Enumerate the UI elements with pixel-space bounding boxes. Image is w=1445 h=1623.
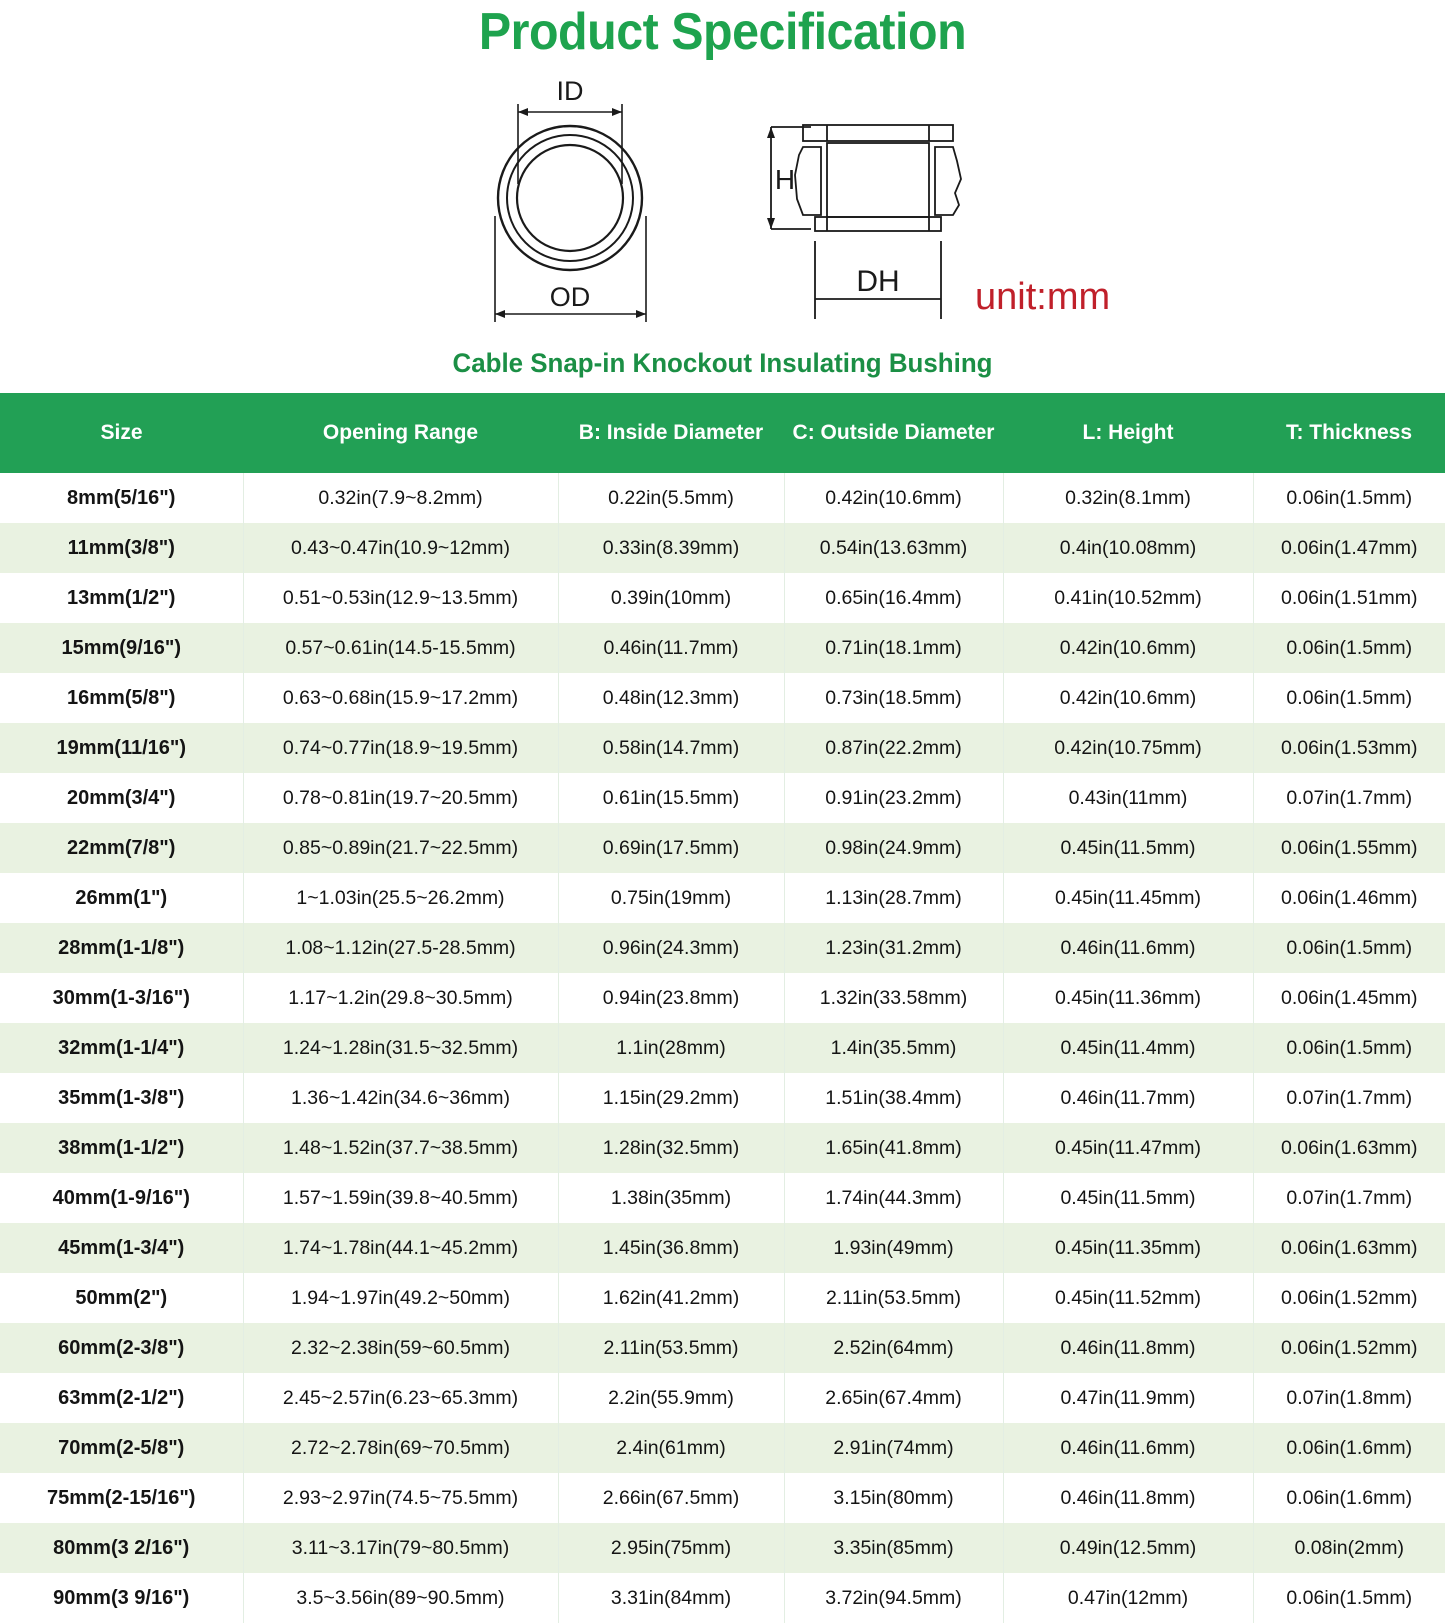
cell-thickness: 0.06in(1.6mm) [1253, 1473, 1445, 1523]
column-header-thickness: T: Thickness [1253, 393, 1445, 473]
cell-thickness: 0.06in(1.5mm) [1253, 923, 1445, 973]
table-row: 38mm(1-1/2")1.48~1.52in(37.7~38.5mm)1.28… [0, 1123, 1445, 1173]
cell-thickness: 0.07in(1.7mm) [1253, 1073, 1445, 1123]
cell-opening-range: 2.32~2.38in(59~60.5mm) [243, 1323, 558, 1373]
cell-thickness: 0.07in(1.7mm) [1253, 1173, 1445, 1223]
front-view-diagram: ID OD [470, 66, 720, 346]
cell-size: 32mm(1-1/4") [0, 1023, 243, 1073]
cell-height: 0.45in(11.5mm) [1003, 823, 1253, 873]
table-row: 13mm(1/2")0.51~0.53in(12.9~13.5mm)0.39in… [0, 573, 1445, 623]
table-row: 30mm(1-3/16")1.17~1.2in(29.8~30.5mm)0.94… [0, 973, 1445, 1023]
cell-size: 13mm(1/2") [0, 573, 243, 623]
cell-size: 16mm(5/8") [0, 673, 243, 723]
cell-opening-range: 1~1.03in(25.5~26.2mm) [243, 873, 558, 923]
cell-opening-range: 2.45~2.57in(6.23~65.3mm) [243, 1373, 558, 1423]
cell-height: 0.46in(11.6mm) [1003, 1423, 1253, 1473]
cell-size: 8mm(5/16") [0, 473, 243, 523]
table-row: 32mm(1-1/4")1.24~1.28in(31.5~32.5mm)1.1i… [0, 1023, 1445, 1073]
cell-size: 15mm(9/16") [0, 623, 243, 673]
cell-outside-diameter: 0.54in(13.63mm) [784, 523, 1003, 573]
cell-size: 35mm(1-3/8") [0, 1073, 243, 1123]
table-row: 20mm(3/4")0.78~0.81in(19.7~20.5mm)0.61in… [0, 773, 1445, 823]
cell-opening-range: 1.24~1.28in(31.5~32.5mm) [243, 1023, 558, 1073]
cell-inside-diameter: 0.46in(11.7mm) [558, 623, 784, 673]
cell-inside-diameter: 2.95in(75mm) [558, 1523, 784, 1573]
cell-opening-range: 3.11~3.17in(79~80.5mm) [243, 1523, 558, 1573]
cell-size: 40mm(1-9/16") [0, 1173, 243, 1223]
cell-opening-range: 1.08~1.12in(27.5-28.5mm) [243, 923, 558, 973]
cell-inside-diameter: 0.96in(24.3mm) [558, 923, 784, 973]
cell-height: 0.42in(10.6mm) [1003, 623, 1253, 673]
cell-size: 63mm(2-1/2") [0, 1373, 243, 1423]
cell-inside-diameter: 1.28in(32.5mm) [558, 1123, 784, 1173]
table-row: 16mm(5/8")0.63~0.68in(15.9~17.2mm)0.48in… [0, 673, 1445, 723]
unit-note: unit:mm [975, 276, 1110, 319]
table-row: 19mm(11/16")0.74~0.77in(18.9~19.5mm)0.58… [0, 723, 1445, 773]
cell-height: 0.32in(8.1mm) [1003, 473, 1253, 523]
cell-outside-diameter: 2.11in(53.5mm) [784, 1273, 1003, 1323]
cell-opening-range: 2.72~2.78in(69~70.5mm) [243, 1423, 558, 1473]
product-diagram-band: ID OD [0, 58, 1445, 348]
cell-outside-diameter: 3.72in(94.5mm) [784, 1573, 1003, 1623]
od-dimension-label: OD [550, 282, 591, 312]
cell-thickness: 0.07in(1.7mm) [1253, 773, 1445, 823]
table-row: 40mm(1-9/16")1.57~1.59in(39.8~40.5mm)1.3… [0, 1173, 1445, 1223]
product-subtitle: Cable Snap-in Knockout Insulating Bushin… [29, 348, 1416, 393]
cell-thickness: 0.06in(1.5mm) [1253, 1023, 1445, 1073]
cell-size: 38mm(1-1/2") [0, 1123, 243, 1173]
cell-height: 0.46in(11.8mm) [1003, 1323, 1253, 1373]
cell-outside-diameter: 0.42in(10.6mm) [784, 473, 1003, 523]
cell-size: 75mm(2-15/16") [0, 1473, 243, 1523]
cell-inside-diameter: 2.4in(61mm) [558, 1423, 784, 1473]
cell-inside-diameter: 0.69in(17.5mm) [558, 823, 784, 873]
cell-height: 0.42in(10.6mm) [1003, 673, 1253, 723]
cell-thickness: 0.06in(1.53mm) [1253, 723, 1445, 773]
cell-thickness: 0.06in(1.51mm) [1253, 573, 1445, 623]
cell-thickness: 0.06in(1.52mm) [1253, 1323, 1445, 1373]
cell-outside-diameter: 1.51in(38.4mm) [784, 1073, 1003, 1123]
cell-outside-diameter: 0.98in(24.9mm) [784, 823, 1003, 873]
column-header-inside: B: Inside Diameter [558, 393, 784, 473]
cell-inside-diameter: 1.62in(41.2mm) [558, 1273, 784, 1323]
cell-thickness: 0.06in(1.46mm) [1253, 873, 1445, 923]
cell-inside-diameter: 0.48in(12.3mm) [558, 673, 784, 723]
table-row: 45mm(1-3/4")1.74~1.78in(44.1~45.2mm)1.45… [0, 1223, 1445, 1273]
cell-thickness: 0.06in(1.63mm) [1253, 1223, 1445, 1273]
cell-size: 80mm(3 2/16") [0, 1523, 243, 1573]
cell-height: 0.43in(11mm) [1003, 773, 1253, 823]
cell-opening-range: 0.51~0.53in(12.9~13.5mm) [243, 573, 558, 623]
cell-size: 28mm(1-1/8") [0, 923, 243, 973]
column-header-opening: Opening Range [243, 393, 558, 473]
table-header: Size Opening Range B: Inside Diameter C:… [0, 393, 1445, 473]
cell-thickness: 0.06in(1.5mm) [1253, 473, 1445, 523]
cell-inside-diameter: 1.1in(28mm) [558, 1023, 784, 1073]
cell-outside-diameter: 1.74in(44.3mm) [784, 1173, 1003, 1223]
cell-inside-diameter: 2.2in(55.9mm) [558, 1373, 784, 1423]
cell-opening-range: 0.43~0.47in(10.9~12mm) [243, 523, 558, 573]
cell-opening-range: 0.57~0.61in(14.5-15.5mm) [243, 623, 558, 673]
cell-size: 70mm(2-5/8") [0, 1423, 243, 1473]
table-row: 80mm(3 2/16")3.11~3.17in(79~80.5mm)2.95i… [0, 1523, 1445, 1573]
table-row: 26mm(1")1~1.03in(25.5~26.2mm)0.75in(19mm… [0, 873, 1445, 923]
cell-height: 0.47in(11.9mm) [1003, 1373, 1253, 1423]
cell-opening-range: 0.63~0.68in(15.9~17.2mm) [243, 673, 558, 723]
column-header-height: L: Height [1003, 393, 1253, 473]
cell-outside-diameter: 0.73in(18.5mm) [784, 673, 1003, 723]
cell-opening-range: 3.5~3.56in(89~90.5mm) [243, 1573, 558, 1623]
cell-size: 45mm(1-3/4") [0, 1223, 243, 1273]
column-header-size: Size [0, 393, 243, 473]
table-row: 28mm(1-1/8")1.08~1.12in(27.5-28.5mm)0.96… [0, 923, 1445, 973]
cell-inside-diameter: 2.66in(67.5mm) [558, 1473, 784, 1523]
cell-inside-diameter: 0.94in(23.8mm) [558, 973, 784, 1023]
column-header-outside: C: Outside Diameter [784, 393, 1003, 473]
cell-size: 26mm(1") [0, 873, 243, 923]
cell-thickness: 0.06in(1.45mm) [1253, 973, 1445, 1023]
cell-opening-range: 1.74~1.78in(44.1~45.2mm) [243, 1223, 558, 1273]
cell-height: 0.41in(10.52mm) [1003, 573, 1253, 623]
table-row: 22mm(7/8")0.85~0.89in(21.7~22.5mm)0.69in… [0, 823, 1445, 873]
cell-inside-diameter: 0.61in(15.5mm) [558, 773, 784, 823]
specification-table: Size Opening Range B: Inside Diameter C:… [0, 393, 1445, 1623]
cell-thickness: 0.06in(1.55mm) [1253, 823, 1445, 873]
cell-outside-diameter: 3.35in(85mm) [784, 1523, 1003, 1573]
cell-height: 0.46in(11.7mm) [1003, 1073, 1253, 1123]
cell-thickness: 0.08in(2mm) [1253, 1523, 1445, 1573]
table-row: 11mm(3/8")0.43~0.47in(10.9~12mm)0.33in(8… [0, 523, 1445, 573]
cell-opening-range: 1.94~1.97in(49.2~50mm) [243, 1273, 558, 1323]
cell-outside-diameter: 0.87in(22.2mm) [784, 723, 1003, 773]
cell-height: 0.45in(11.52mm) [1003, 1273, 1253, 1323]
cell-size: 11mm(3/8") [0, 523, 243, 573]
cell-height: 0.46in(11.8mm) [1003, 1473, 1253, 1523]
cell-height: 0.45in(11.5mm) [1003, 1173, 1253, 1223]
cell-inside-diameter: 0.22in(5.5mm) [558, 473, 784, 523]
cell-opening-range: 0.85~0.89in(21.7~22.5mm) [243, 823, 558, 873]
cell-inside-diameter: 0.39in(10mm) [558, 573, 784, 623]
cell-opening-range: 1.48~1.52in(37.7~38.5mm) [243, 1123, 558, 1173]
table-row: 75mm(2-15/16")2.93~2.97in(74.5~75.5mm)2.… [0, 1473, 1445, 1523]
cell-height: 0.42in(10.75mm) [1003, 723, 1253, 773]
cell-outside-diameter: 0.91in(23.2mm) [784, 773, 1003, 823]
table-row: 15mm(9/16")0.57~0.61in(14.5-15.5mm)0.46i… [0, 623, 1445, 673]
cell-thickness: 0.06in(1.6mm) [1253, 1423, 1445, 1473]
cell-outside-diameter: 1.65in(41.8mm) [784, 1123, 1003, 1173]
cell-opening-range: 0.74~0.77in(18.9~19.5mm) [243, 723, 558, 773]
cell-size: 19mm(11/16") [0, 723, 243, 773]
cell-height: 0.45in(11.35mm) [1003, 1223, 1253, 1273]
cell-inside-diameter: 1.38in(35mm) [558, 1173, 784, 1223]
cell-opening-range: 0.78~0.81in(19.7~20.5mm) [243, 773, 558, 823]
cell-outside-diameter: 1.13in(28.7mm) [784, 873, 1003, 923]
cell-height: 0.49in(12.5mm) [1003, 1523, 1253, 1573]
cell-height: 0.45in(11.47mm) [1003, 1123, 1253, 1173]
cell-height: 0.45in(11.4mm) [1003, 1023, 1253, 1073]
cell-thickness: 0.06in(1.52mm) [1253, 1273, 1445, 1323]
cell-thickness: 0.06in(1.5mm) [1253, 673, 1445, 723]
cell-thickness: 0.06in(1.47mm) [1253, 523, 1445, 573]
dh-dimension-label: DH [856, 265, 899, 298]
cell-thickness: 0.06in(1.5mm) [1253, 623, 1445, 673]
cell-thickness: 0.06in(1.5mm) [1253, 1573, 1445, 1623]
h-dimension-label: H [775, 164, 795, 195]
cell-size: 22mm(7/8") [0, 823, 243, 873]
cell-height: 0.45in(11.45mm) [1003, 873, 1253, 923]
table-row: 50mm(2")1.94~1.97in(49.2~50mm)1.62in(41.… [0, 1273, 1445, 1323]
cell-outside-diameter: 1.32in(33.58mm) [784, 973, 1003, 1023]
table-body: 8mm(5/16")0.32in(7.9~8.2mm)0.22in(5.5mm)… [0, 473, 1445, 1623]
cell-outside-diameter: 3.15in(80mm) [784, 1473, 1003, 1523]
table-row: 70mm(2-5/8")2.72~2.78in(69~70.5mm)2.4in(… [0, 1423, 1445, 1473]
cell-size: 60mm(2-3/8") [0, 1323, 243, 1373]
cell-opening-range: 1.17~1.2in(29.8~30.5mm) [243, 973, 558, 1023]
cell-opening-range: 1.36~1.42in(34.6~36mm) [243, 1073, 558, 1123]
cell-inside-diameter: 0.58in(14.7mm) [558, 723, 784, 773]
cell-size: 20mm(3/4") [0, 773, 243, 823]
cell-size: 90mm(3 9/16") [0, 1573, 243, 1623]
cell-opening-range: 0.32in(7.9~8.2mm) [243, 473, 558, 523]
cell-inside-diameter: 1.15in(29.2mm) [558, 1073, 784, 1123]
table-row: 35mm(1-3/8")1.36~1.42in(34.6~36mm)1.15in… [0, 1073, 1445, 1123]
table-row: 8mm(5/16")0.32in(7.9~8.2mm)0.22in(5.5mm)… [0, 473, 1445, 523]
cell-inside-diameter: 2.11in(53.5mm) [558, 1323, 784, 1373]
cell-opening-range: 2.93~2.97in(74.5~75.5mm) [243, 1473, 558, 1523]
cell-height: 0.46in(11.6mm) [1003, 923, 1253, 973]
cell-inside-diameter: 0.33in(8.39mm) [558, 523, 784, 573]
table-row: 60mm(2-3/8")2.32~2.38in(59~60.5mm)2.11in… [0, 1323, 1445, 1373]
table-header-row: Size Opening Range B: Inside Diameter C:… [0, 393, 1445, 473]
cell-height: 0.47in(12mm) [1003, 1573, 1253, 1623]
cell-outside-diameter: 1.4in(35.5mm) [784, 1023, 1003, 1073]
cell-outside-diameter: 2.52in(64mm) [784, 1323, 1003, 1373]
cell-height: 0.45in(11.36mm) [1003, 973, 1253, 1023]
cell-outside-diameter: 1.23in(31.2mm) [784, 923, 1003, 973]
page-title: Product Specification [51, 0, 1395, 58]
cell-size: 50mm(2") [0, 1273, 243, 1323]
cell-inside-diameter: 0.75in(19mm) [558, 873, 784, 923]
cell-outside-diameter: 0.65in(16.4mm) [784, 573, 1003, 623]
table-row: 90mm(3 9/16")3.5~3.56in(89~90.5mm)3.31in… [0, 1573, 1445, 1623]
id-dimension-label: ID [557, 76, 584, 106]
cell-outside-diameter: 2.65in(67.4mm) [784, 1373, 1003, 1423]
cell-thickness: 0.06in(1.63mm) [1253, 1123, 1445, 1173]
cell-outside-diameter: 2.91in(74mm) [784, 1423, 1003, 1473]
cell-opening-range: 1.57~1.59in(39.8~40.5mm) [243, 1173, 558, 1223]
cell-outside-diameter: 1.93in(49mm) [784, 1223, 1003, 1273]
cell-inside-diameter: 3.31in(84mm) [558, 1573, 784, 1623]
cell-outside-diameter: 0.71in(18.1mm) [784, 623, 1003, 673]
table-row: 63mm(2-1/2")2.45~2.57in(6.23~65.3mm)2.2i… [0, 1373, 1445, 1423]
cell-inside-diameter: 1.45in(36.8mm) [558, 1223, 784, 1273]
cell-height: 0.4in(10.08mm) [1003, 523, 1253, 573]
cell-size: 30mm(1-3/16") [0, 973, 243, 1023]
cell-thickness: 0.07in(1.8mm) [1253, 1373, 1445, 1423]
